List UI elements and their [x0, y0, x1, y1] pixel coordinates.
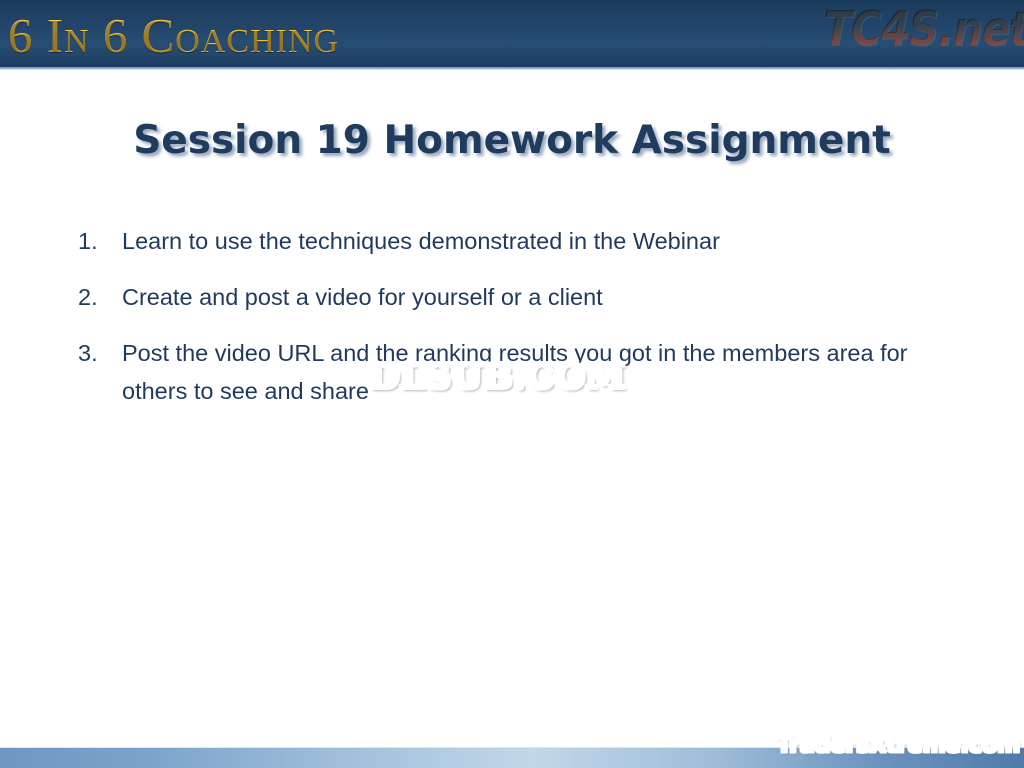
list-item-text: Create and post a video for yourself or … [122, 284, 603, 310]
slide-canvas: 6 In 6 Coaching TC4S.net Session 19 Home… [0, 0, 1024, 768]
list-item: 1. Learn to use the techniques demonstra… [74, 222, 958, 260]
footer-site-logo: TradersXtreme.com [777, 733, 1020, 758]
dlsub-watermark: DLSUB.COM [368, 357, 625, 397]
list-item-text: Learn to use the techniques demonstrated… [122, 228, 720, 254]
list-item: 2. Create and post a video for yourself … [74, 278, 958, 316]
list-item-number: 2. [78, 278, 108, 316]
site-logo: TC4S.net [823, 0, 1024, 59]
page-title: Session 19 Homework Assignment [0, 118, 1024, 163]
header-banner: 6 In 6 Coaching TC4S.net [0, 0, 1024, 70]
list-item-number: 1. [78, 222, 108, 260]
brand-title: 6 In 6 Coaching [8, 7, 339, 64]
homework-list: 1. Learn to use the techniques demonstra… [74, 222, 958, 428]
list-item-number: 3. [78, 334, 108, 372]
